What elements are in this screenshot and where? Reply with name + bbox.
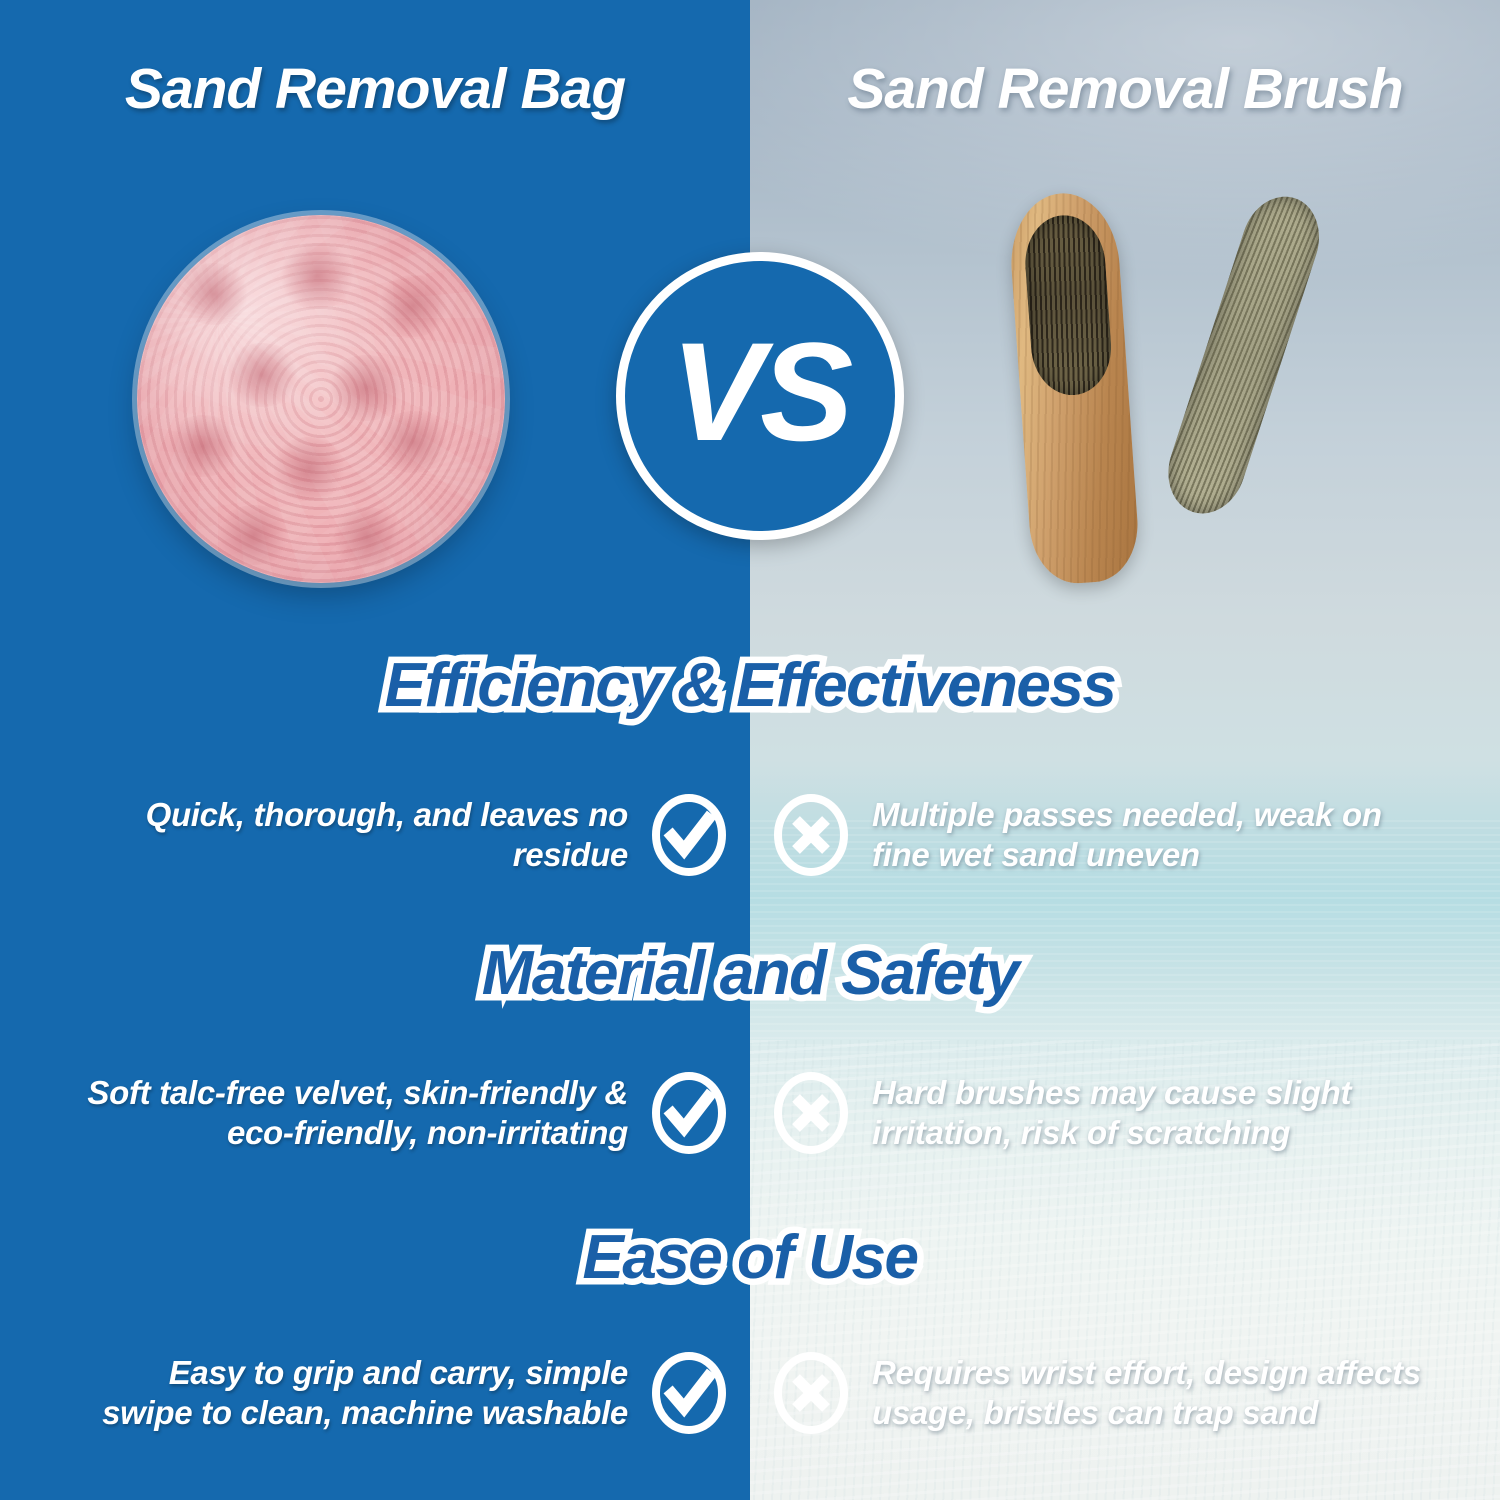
bag-tuft bbox=[215, 505, 293, 565]
brush-tilted bbox=[1136, 176, 1374, 594]
row-left-side: Easy to grip and carry, simple swipe to … bbox=[0, 1351, 750, 1435]
cross-icon bbox=[772, 793, 850, 877]
bag-tuft bbox=[375, 411, 451, 473]
row-left-side: Quick, thorough, and leaves no residue bbox=[0, 793, 750, 877]
cross-icon bbox=[772, 1351, 850, 1435]
section-heading-ease-of-use: Ease of Use bbox=[0, 1222, 1500, 1293]
bag-tuft bbox=[329, 507, 405, 567]
bag-tuft bbox=[223, 343, 301, 407]
check-icon bbox=[650, 1351, 728, 1435]
right-feature-text: Multiple passes needed, weak on fine wet… bbox=[872, 795, 1447, 876]
comparison-row-efficiency: Quick, thorough, and leaves no residue M… bbox=[0, 775, 1500, 895]
bag-tuft bbox=[165, 415, 241, 477]
bag-tuft bbox=[269, 437, 349, 501]
check-icon bbox=[650, 793, 728, 877]
bag-tuft bbox=[325, 355, 407, 421]
vs-label: VS bbox=[671, 322, 850, 462]
brush-with-handle bbox=[1007, 190, 1142, 587]
cross-icon bbox=[772, 1071, 850, 1155]
sand-removal-bag-image bbox=[137, 215, 505, 583]
row-right-side: Multiple passes needed, weak on fine wet… bbox=[750, 793, 1500, 877]
left-feature-text: Soft talc-free velvet, skin-friendly & e… bbox=[83, 1073, 628, 1154]
bag-tuft bbox=[277, 243, 357, 309]
brush-bristles bbox=[1157, 186, 1331, 523]
comparison-row-material-safety: Soft talc-free velvet, skin-friendly & e… bbox=[0, 1050, 1500, 1176]
bag-tuft bbox=[375, 275, 451, 337]
row-right-side: Hard brushes may cause slight irritation… bbox=[750, 1071, 1500, 1155]
bag-tuft bbox=[177, 263, 251, 325]
row-left-side: Soft talc-free velvet, skin-friendly & e… bbox=[0, 1071, 750, 1155]
comparison-row-ease-of-use: Easy to grip and carry, simple swipe to … bbox=[0, 1330, 1500, 1456]
left-panel-title: Sand Removal Bag bbox=[0, 46, 750, 132]
section-heading-material-safety: Material and Safety bbox=[0, 938, 1500, 1009]
section-heading-efficiency: Efficiency & Effectiveness bbox=[0, 650, 1500, 721]
row-right-side: Requires wrist effort, design affects us… bbox=[750, 1351, 1500, 1435]
check-icon bbox=[650, 1071, 728, 1155]
right-panel-title: Sand Removal Brush bbox=[750, 46, 1500, 132]
left-feature-text: Easy to grip and carry, simple swipe to … bbox=[83, 1353, 628, 1434]
right-feature-text: Requires wrist effort, design affects us… bbox=[872, 1353, 1447, 1434]
comparison-infographic: Sand Removal Bag Sand Removal Brush bbox=[0, 0, 1500, 1500]
vs-badge: VS bbox=[616, 252, 904, 540]
left-feature-text: Quick, thorough, and leaves no residue bbox=[83, 795, 628, 876]
right-feature-text: Hard brushes may cause slight irritation… bbox=[872, 1073, 1447, 1154]
sand-removal-brush-image bbox=[1010, 185, 1410, 595]
